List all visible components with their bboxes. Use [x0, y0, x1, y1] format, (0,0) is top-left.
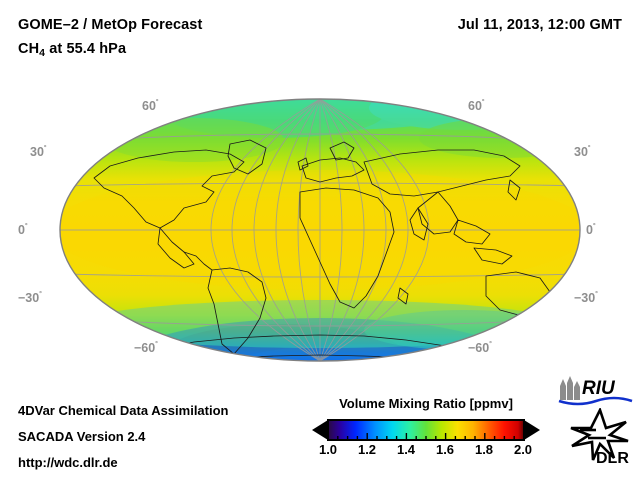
mollweide-map — [34, 92, 606, 382]
colorbar-arrow-right — [524, 420, 540, 440]
lat-label-60s-right: −60˚ — [468, 340, 492, 355]
timestamp: Jul 11, 2013, 12:00 GMT — [458, 17, 622, 33]
tick-label-2-0: 2.0 — [514, 442, 532, 457]
species-formula: CH — [18, 41, 39, 57]
graticule — [60, 99, 580, 361]
riu-tower-icon — [560, 376, 580, 400]
lat-label-60n-right: 60˚ — [468, 98, 485, 113]
colorbar: Volume Mixing Ratio [ppmv] — [310, 396, 542, 472]
lat-label-60n-left: 60˚ — [142, 98, 159, 113]
tick-label-1-2: 1.2 — [358, 442, 376, 457]
species-altitude: at 55.4 hPa — [45, 41, 126, 57]
species-label: CH4 at 55.4 hPa — [18, 41, 126, 59]
colorbar-arrow-left — [312, 420, 328, 440]
colorbar-title: Volume Mixing Ratio [ppmv] — [310, 396, 542, 411]
lat-label-60s-left: −60˚ — [134, 340, 158, 355]
lat-label-30s-right: −30˚ — [574, 290, 598, 305]
page-title: GOME–2 / MetOp Forecast — [18, 17, 202, 33]
tick-label-1-8: 1.8 — [475, 442, 493, 457]
riu-wordmark: RIU — [582, 378, 616, 399]
method-label: 4DVar Chemical Data Assimilation — [18, 403, 229, 418]
tick-label-1-0: 1.0 — [319, 442, 337, 457]
tick-label-1-6: 1.6 — [436, 442, 454, 457]
dlr-logo: DLR — [566, 408, 634, 466]
version-label: SACADA Version 2.4 — [18, 429, 145, 444]
lat-label-0-left: 0˚ — [18, 222, 28, 237]
dlr-wordmark: DLR — [596, 450, 629, 466]
figure-canvas: GOME–2 / MetOp Forecast CH4 at 55.4 hPa … — [0, 0, 640, 480]
colorbar-tick-labels: 1.0 1.2 1.4 1.6 1.8 2.0 — [310, 442, 542, 462]
lat-label-30n-right: 30˚ — [574, 144, 591, 159]
riu-logo: RIU — [556, 374, 634, 406]
map-container: 60˚ 30˚ 0˚ −30˚ −60˚ 60˚ 30˚ 0˚ −30˚ −60… — [34, 92, 606, 382]
lat-label-0-right: 0˚ — [586, 222, 596, 237]
source-url[interactable]: http://wdc.dlr.de — [18, 455, 118, 470]
tick-label-1-4: 1.4 — [397, 442, 415, 457]
lat-label-30n-left: 30˚ — [30, 144, 47, 159]
lat-label-30s-left: −30˚ — [18, 290, 42, 305]
colorbar-gradient — [310, 418, 542, 442]
